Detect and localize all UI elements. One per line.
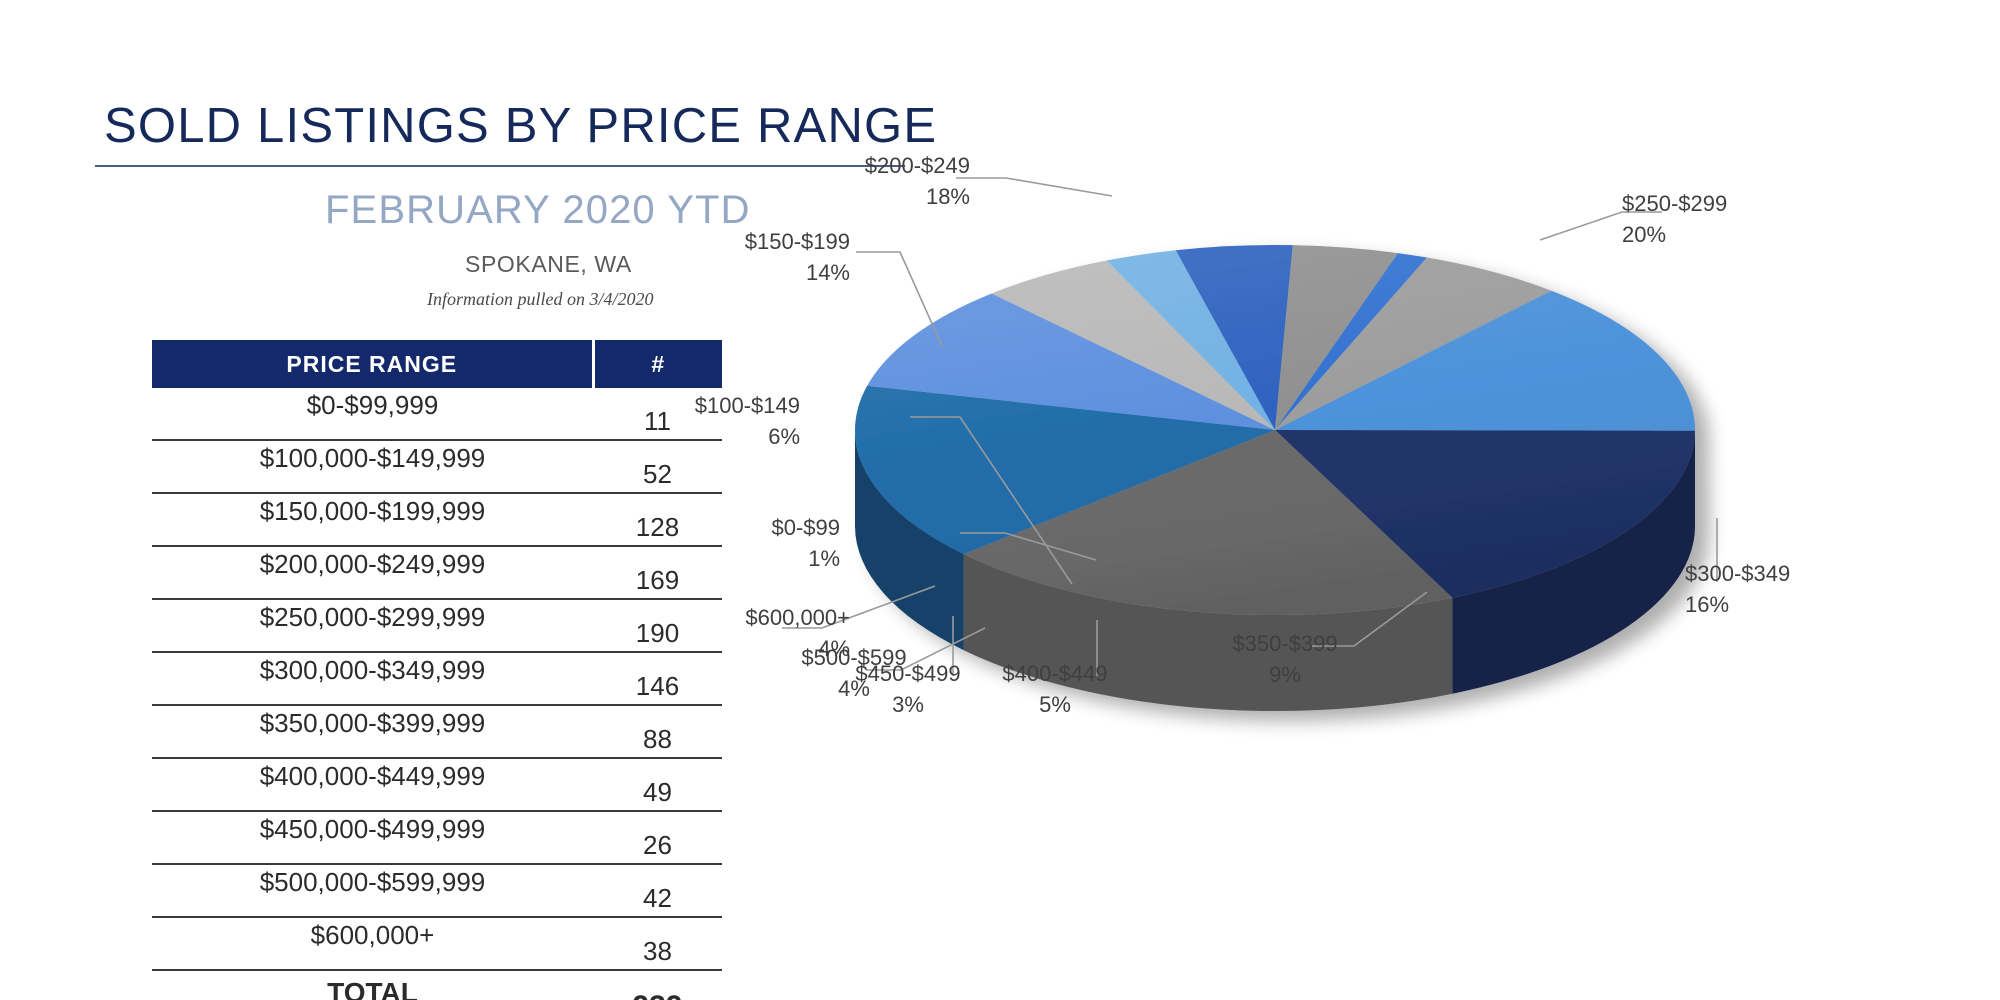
pie-chart-svg <box>760 130 2000 960</box>
cell-price-range: $450,000-$499,999 <box>152 811 593 864</box>
cell-price-range: $250,000-$299,999 <box>152 599 593 652</box>
pie-chart: $200-$249 18% $250-$299 20% $150-$199 14… <box>760 130 2000 960</box>
cell-price-range: $100,000-$149,999 <box>152 440 593 493</box>
pie-label-100-149: $100-$149 6% <box>580 390 800 452</box>
cell-total-count: 939 <box>593 970 722 1000</box>
cell-count: 88 <box>593 705 722 758</box>
column-header-price-range: PRICE RANGE <box>152 340 593 388</box>
pie-label-150-199: $150-$199 14% <box>630 226 850 288</box>
cell-price-range: $300,000-$349,999 <box>152 652 593 705</box>
cell-count: 49 <box>593 758 722 811</box>
pie-label-350-399: $350-$399 9% <box>1175 628 1395 690</box>
cell-count: 42 <box>593 864 722 917</box>
pie-label-200-249: $200-$249 18% <box>750 150 970 212</box>
table-header-row: PRICE RANGE # <box>152 340 722 388</box>
pie-label-250-299: $250-$299 20% <box>1622 188 1842 250</box>
cell-count: 38 <box>593 917 722 970</box>
data-pulled-note: Information pulled on 3/4/2020 <box>427 289 654 310</box>
leader-line-3 <box>956 178 1112 196</box>
cell-price-range: $350,000-$399,999 <box>152 705 593 758</box>
table-row: $450,000-$499,99926 <box>152 811 722 864</box>
cell-price-range: $500,000-$599,999 <box>152 864 593 917</box>
cell-price-range: $150,000-$199,999 <box>152 493 593 546</box>
pie-label-300-349: $300-$349 16% <box>1685 558 1905 620</box>
cell-price-range: $600,000+ <box>152 917 593 970</box>
slide-canvas: SOLD LISTINGS BY PRICE RANGE FEBRUARY 20… <box>0 0 2000 1000</box>
table-row: $600,000+38 <box>152 917 722 970</box>
table-row: $500,000-$599,99942 <box>152 864 722 917</box>
column-header-count: # <box>593 340 722 388</box>
cell-price-range: $200,000-$249,999 <box>152 546 593 599</box>
location-label: SPOKANE, WA <box>465 251 632 278</box>
cell-price-range: $400,000-$449,999 <box>152 758 593 811</box>
table-body: $0-$99,99911$100,000-$149,99952$150,000-… <box>152 388 722 1000</box>
table-row: $350,000-$399,99988 <box>152 705 722 758</box>
pie-label-0-99: $0-$99 1% <box>620 512 840 574</box>
pie-label-400-449: $400-$449 5% <box>945 658 1165 720</box>
cell-price-range: $0-$99,999 <box>152 388 593 440</box>
cell-total-label: TOTAL <box>152 970 593 1000</box>
table-row: $400,000-$449,99949 <box>152 758 722 811</box>
cell-count: 26 <box>593 811 722 864</box>
table-total-row: TOTAL939 <box>152 970 722 1000</box>
pie-top-faces <box>855 245 1695 615</box>
